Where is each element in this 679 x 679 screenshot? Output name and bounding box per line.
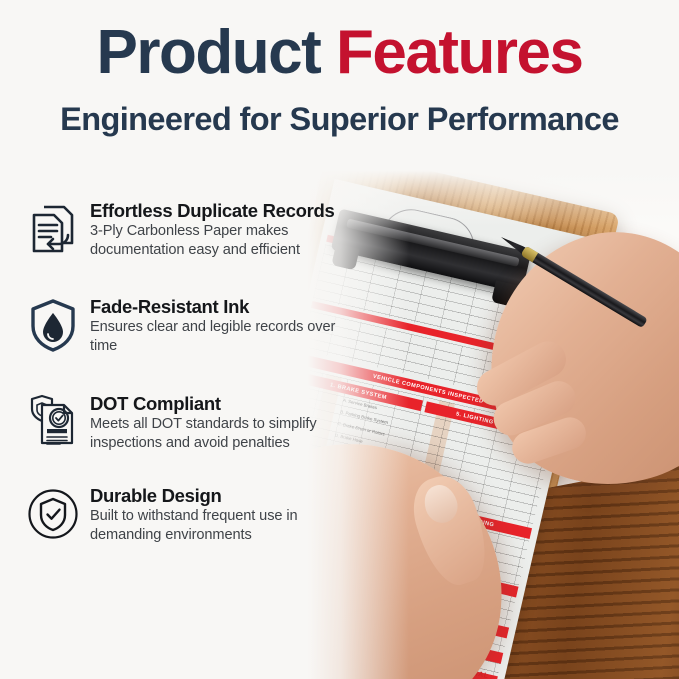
shield-ink-drop-icon xyxy=(22,294,84,356)
page-header: Product Features Engineered for Superior… xyxy=(0,22,679,138)
feature-text-block: Effortless Duplicate Records 3-Ply Carbo… xyxy=(90,196,352,259)
feature-item-effortless-duplicate-records: Effortless Duplicate Records 3-Ply Carbo… xyxy=(22,196,352,260)
page-title: Product Features xyxy=(0,22,679,84)
feature-title: Fade-Resistant Ink xyxy=(90,296,352,317)
feature-title: Effortless Duplicate Records xyxy=(90,200,352,221)
feature-item-dot-compliant: DOT Compliant Meets all DOT standards to… xyxy=(22,389,352,453)
feature-description: Meets all DOT standards to simplify insp… xyxy=(90,415,352,451)
feature-title: Durable Design xyxy=(90,485,352,506)
feature-list: Effortless Duplicate Records 3-Ply Carbo… xyxy=(22,196,352,545)
feature-item-fade-resistant-ink: Fade-Resistant Ink Ensures clear and leg… xyxy=(22,292,352,356)
page-title-word-features: Features xyxy=(336,18,582,87)
page-title-word-product: Product xyxy=(97,18,321,87)
shield-check-circle-icon xyxy=(22,483,84,545)
feature-text-block: Fade-Resistant Ink Ensures clear and leg… xyxy=(90,292,352,355)
page-subtitle: Engineered for Superior Performance xyxy=(0,102,679,138)
feature-description: 3-Ply Carbonless Paper makes documentati… xyxy=(90,222,352,258)
duplicate-documents-icon xyxy=(22,198,84,260)
product-photo: BUCK U.S ANNUAL VEHICLE INSPECTION REPOR… xyxy=(299,168,679,679)
feature-text-block: DOT Compliant Meets all DOT standards to… xyxy=(90,389,352,452)
feature-description: Built to withstand frequent use in deman… xyxy=(90,507,352,543)
document-check-shield-icon xyxy=(22,391,84,453)
feature-title: DOT Compliant xyxy=(90,393,352,414)
feature-text-block: Durable Design Built to withstand freque… xyxy=(90,481,352,544)
feature-item-durable-design: Durable Design Built to withstand freque… xyxy=(22,481,352,545)
product-features-infographic: BUCK U.S ANNUAL VEHICLE INSPECTION REPOR… xyxy=(0,0,679,679)
thumbnail xyxy=(420,481,462,527)
feature-description: Ensures clear and legible records over t… xyxy=(90,318,352,354)
